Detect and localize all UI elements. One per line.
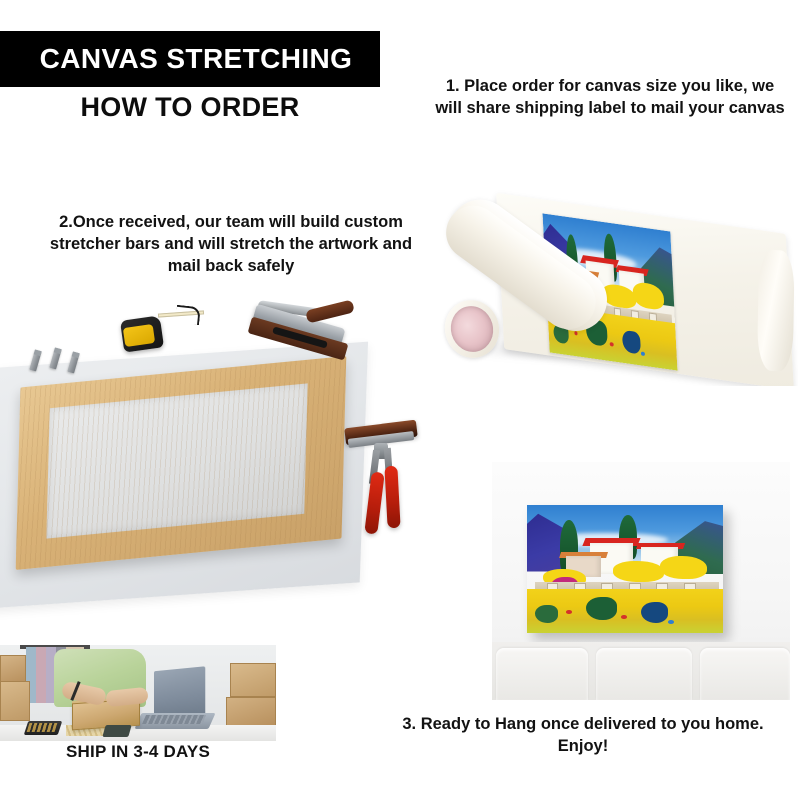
painting-blue-bush xyxy=(641,602,668,622)
step-2-caption: 2.Once received, our team will build cus… xyxy=(36,212,426,277)
infographic-page: CANVAS STRETCHING HOW TO ORDER 1. Place … xyxy=(0,0,800,800)
sofa-cushion xyxy=(496,648,588,700)
sofa-cushion xyxy=(596,648,692,700)
smartphone-icon xyxy=(102,725,131,737)
step-1-caption: 1. Place order for canvas size you like,… xyxy=(432,76,788,120)
shipping-note: SHIP IN 3-4 DAYS xyxy=(0,741,276,763)
packing-photo xyxy=(0,645,276,741)
sheet-curl-edge xyxy=(757,249,795,372)
landscape-painting-art xyxy=(527,505,723,633)
painting-dark-bush xyxy=(535,605,559,623)
step-3-caption: 3. Ready to Hang once delivered to you h… xyxy=(378,714,788,758)
cardboard-box-stack-right xyxy=(226,697,276,727)
painting-yellow-foliage xyxy=(660,556,707,579)
wall-art-photo xyxy=(492,462,790,700)
laptop-keyboard xyxy=(142,715,206,724)
sofa xyxy=(492,642,790,700)
painting-red-dab xyxy=(621,615,627,619)
cardboard-box-stack-right xyxy=(230,663,276,697)
title-banner: CANVAS STRETCHING xyxy=(0,31,380,87)
painting-blue-dab xyxy=(668,620,674,624)
calculator-keys xyxy=(27,723,58,732)
cardboard-box-stack-left xyxy=(0,681,30,721)
page-title: CANVAS STRETCHING xyxy=(28,43,353,75)
rolled-canvas-photo xyxy=(440,186,798,386)
sofa-cushion xyxy=(700,648,790,700)
stretched-canvas-surface xyxy=(46,383,307,538)
painting-red-dab xyxy=(566,610,572,614)
painting-dark-bush xyxy=(586,597,617,620)
hung-canvas-artwork xyxy=(527,505,723,633)
cardboard-box-stack-left xyxy=(0,655,26,683)
laptop-screen xyxy=(154,666,205,719)
painting-yellow-foliage xyxy=(613,561,664,581)
page-subtitle: HOW TO ORDER xyxy=(0,92,380,123)
